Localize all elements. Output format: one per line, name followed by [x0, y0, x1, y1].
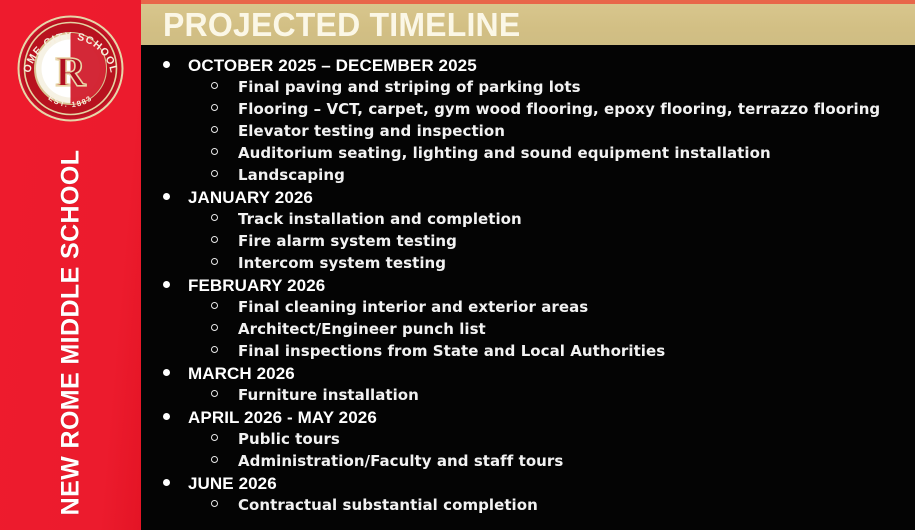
bullet-circle-icon [211, 148, 218, 155]
timeline-task-label: Elevator testing and inspection [238, 122, 505, 140]
timeline-task-label: Furniture installation [238, 386, 419, 404]
bullet-circle-icon [211, 258, 218, 265]
page-title: PROJECTED TIMELINE [163, 8, 520, 41]
bullet-circle-icon [211, 214, 218, 221]
timeline-task-label: Final inspections from State and Local A… [238, 342, 665, 360]
bullet-circle-icon [211, 302, 218, 309]
bullet-circle-icon [211, 104, 218, 111]
timeline-task-row: Landscaping [141, 166, 915, 188]
timeline-period-label: FEBRUARY 2026 [188, 276, 325, 296]
timeline-task-row: Flooring – VCT, carpet, gym wood floorin… [141, 100, 915, 122]
left-sidebar: R ROME CITY SCHOOLS EST. 1883 NEW ROME M… [0, 0, 141, 530]
timeline-task-row: Furniture installation [141, 386, 915, 408]
school-name-text: NEW ROME MIDDLE SCHOOL [56, 150, 85, 516]
timeline-task-label: Contractual substantial completion [238, 496, 538, 514]
timeline-task-label: Landscaping [238, 166, 345, 184]
timeline-period-label: MARCH 2026 [188, 364, 295, 384]
timeline-period-row: OCTOBER 2025 – DECEMBER 2025 [141, 56, 915, 78]
presentation-slide: R ROME CITY SCHOOLS EST. 1883 NEW ROME M… [0, 0, 915, 530]
timeline-task-row: Final cleaning interior and exterior are… [141, 298, 915, 320]
timeline-task-label: Track installation and completion [238, 210, 522, 228]
bullet-circle-icon [211, 434, 218, 441]
timeline-task-label: Administration/Faculty and staff tours [238, 452, 563, 470]
bullet-circle-icon [211, 390, 218, 397]
rome-city-schools-seal-icon: R ROME CITY SCHOOLS EST. 1883 [14, 12, 127, 125]
timeline-task-row: Track installation and completion [141, 210, 915, 232]
timeline-task-label: Final paving and striping of parking lot… [238, 78, 581, 96]
timeline-period-label: APRIL 2026 - MAY 2026 [188, 408, 377, 428]
bullet-circle-icon [211, 82, 218, 89]
timeline-task-label: Auditorium seating, lighting and sound e… [238, 144, 771, 162]
bullet-disc-icon [163, 61, 170, 68]
bullet-disc-icon [163, 281, 170, 288]
timeline-task-row: Architect/Engineer punch list [141, 320, 915, 342]
slide-title-bar: PROJECTED TIMELINE [141, 4, 915, 45]
timeline-task-row: Auditorium seating, lighting and sound e… [141, 144, 915, 166]
timeline-task-label: Architect/Engineer punch list [238, 320, 486, 338]
timeline-task-row: Elevator testing and inspection [141, 122, 915, 144]
timeline-period-row: FEBRUARY 2026 [141, 276, 915, 298]
timeline-period-row: JUNE 2026 [141, 474, 915, 496]
timeline-task-label: Public tours [238, 430, 340, 448]
bullet-circle-icon [211, 170, 218, 177]
timeline-task-label: Fire alarm system testing [238, 232, 457, 250]
timeline-list: OCTOBER 2025 – DECEMBER 2025Final paving… [141, 45, 915, 530]
bullet-circle-icon [211, 126, 218, 133]
timeline-period-label: JANUARY 2026 [188, 188, 313, 208]
school-name-vertical: NEW ROME MIDDLE SCHOOL [0, 140, 141, 525]
bullet-disc-icon [163, 413, 170, 420]
bullet-disc-icon [163, 193, 170, 200]
timeline-task-row: Administration/Faculty and staff tours [141, 452, 915, 474]
timeline-task-label: Flooring – VCT, carpet, gym wood floorin… [238, 100, 880, 118]
timeline-period-label: OCTOBER 2025 – DECEMBER 2025 [188, 56, 477, 76]
timeline-task-row: Fire alarm system testing [141, 232, 915, 254]
bullet-circle-icon [211, 346, 218, 353]
svg-text:R: R [55, 50, 86, 96]
timeline-task-label: Final cleaning interior and exterior are… [238, 298, 588, 316]
timeline-task-row: Final inspections from State and Local A… [141, 342, 915, 364]
timeline-period-row: APRIL 2026 - MAY 2026 [141, 408, 915, 430]
timeline-task-label: Intercom system testing [238, 254, 446, 272]
bullet-disc-icon [163, 369, 170, 376]
bullet-circle-icon [211, 236, 218, 243]
timeline-period-row: MARCH 2026 [141, 364, 915, 386]
bullet-disc-icon [163, 479, 170, 486]
timeline-task-row: Intercom system testing [141, 254, 915, 276]
timeline-task-row: Final paving and striping of parking lot… [141, 78, 915, 100]
bullet-circle-icon [211, 456, 218, 463]
bullet-circle-icon [211, 500, 218, 507]
bullet-circle-icon [211, 324, 218, 331]
timeline-period-label: JUNE 2026 [188, 474, 277, 494]
timeline-task-row: Public tours [141, 430, 915, 452]
timeline-task-row: Contractual substantial completion [141, 496, 915, 518]
timeline-period-row: JANUARY 2026 [141, 188, 915, 210]
